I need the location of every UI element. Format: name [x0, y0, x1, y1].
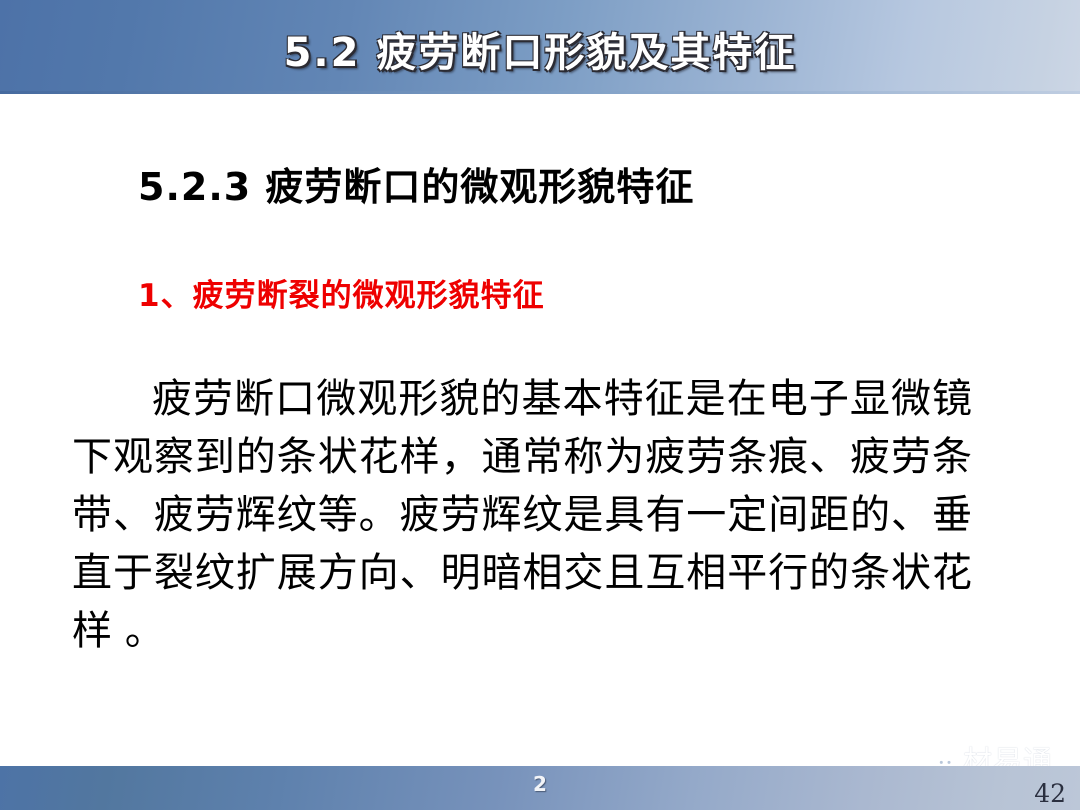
section-heading: 5.2.3 疲劳断口的微观形貌特征	[138, 156, 694, 211]
slide-header-title: 5.2 疲劳断口形貌及其特征	[0, 20, 1080, 78]
presentation-slide: 5.2 疲劳断口形貌及其特征 5.2.3 疲劳断口的微观形貌特征 1、疲劳断裂的…	[0, 0, 1080, 810]
slide-number: 42	[1034, 779, 1066, 808]
slide-header-bar: 5.2 疲劳断口形貌及其特征	[0, 0, 1080, 94]
sub-heading: 1、疲劳断裂的微观形貌特征	[138, 270, 545, 315]
slide-content-area: 5.2.3 疲劳断口的微观形貌特征 1、疲劳断裂的微观形貌特征 疲劳断口微观形貌…	[0, 94, 1080, 766]
body-paragraph: 疲劳断口微观形貌的基本特征是在电子显微镜下观察到的条状花样，通常称为疲劳条痕、疲…	[72, 370, 972, 660]
footer-page-number: 2	[0, 772, 1080, 796]
